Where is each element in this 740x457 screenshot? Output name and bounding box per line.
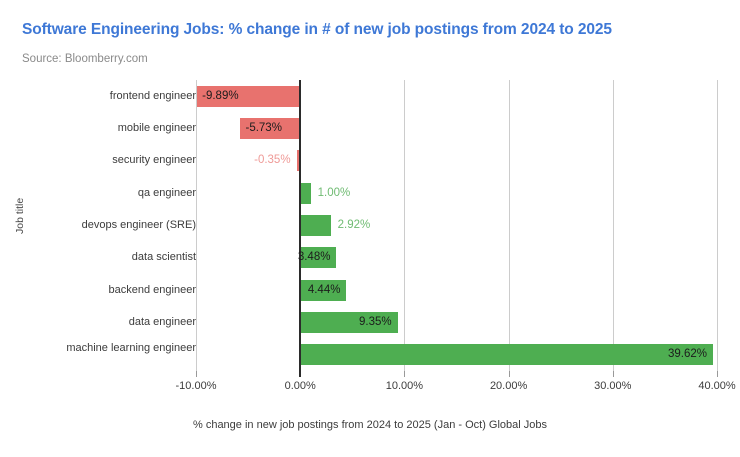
- bar-row[interactable]: 9.35%: [196, 312, 717, 333]
- y-axis-category-label: data engineer: [20, 316, 196, 329]
- x-tick-mark: [299, 371, 301, 377]
- y-axis-category-label: security engineer: [20, 154, 196, 167]
- bar-row[interactable]: 4.44%: [196, 280, 717, 301]
- bar-value-label: 9.35%: [196, 312, 392, 333]
- bar-row[interactable]: 1.00%: [196, 183, 717, 204]
- y-axis-category-label: backend engineer: [20, 284, 196, 297]
- y-axis-category-label: mobile engineer: [20, 122, 196, 135]
- x-axis-title: % change in new job postings from 2024 t…: [0, 419, 740, 431]
- x-tick-label: -10.00%: [176, 380, 217, 392]
- x-tick-mark: [509, 371, 510, 377]
- plot-area: -9.89%-5.73%-0.35%1.00%2.92%3.48%4.44%9.…: [196, 80, 717, 371]
- bar-row[interactable]: -0.35%: [196, 150, 717, 171]
- bar-value-label: 2.92%: [338, 215, 371, 236]
- bar-row[interactable]: -9.89%: [196, 86, 717, 107]
- bar-value-label: 39.62%: [196, 344, 707, 365]
- bar-row[interactable]: 2.92%: [196, 215, 717, 236]
- x-tick-mark: [404, 371, 405, 377]
- x-tick-label: 0.00%: [285, 380, 316, 392]
- bar-value-label: -0.35%: [196, 150, 291, 171]
- chart-container: Software Engineering Jobs: % change in #…: [0, 0, 740, 457]
- y-axis-category-label: frontend engineer: [20, 90, 196, 103]
- y-axis-category-label: qa engineer: [20, 187, 196, 200]
- bar-value-label: 3.48%: [196, 247, 330, 268]
- x-tick-mark: [613, 371, 614, 377]
- chart-title: Software Engineering Jobs: % change in #…: [22, 21, 612, 39]
- y-axis-category-label: machine learning engineer: [20, 342, 196, 355]
- bar-row[interactable]: -5.73%: [196, 118, 717, 139]
- x-axis-ticks: -10.00%0.00%10.00%20.00%30.00%40.00%: [196, 371, 717, 397]
- bar-value-label: 4.44%: [196, 280, 340, 301]
- bar-row[interactable]: 39.62%: [196, 344, 717, 365]
- y-axis-category-label: devops engineer (SRE): [20, 219, 196, 232]
- x-tick-label: 10.00%: [386, 380, 423, 392]
- bar-value-label: 1.00%: [318, 183, 351, 204]
- bar-value-label: -9.89%: [202, 86, 238, 107]
- bar-row[interactable]: 3.48%: [196, 247, 717, 268]
- gridline: [717, 80, 718, 371]
- x-tick-label: 20.00%: [490, 380, 527, 392]
- y-axis-category-label: data scientist: [20, 251, 196, 264]
- x-tick-mark: [717, 371, 718, 377]
- x-tick-label: 40.00%: [698, 380, 735, 392]
- y-axis-category-labels: frontend engineermobile engineersecurity…: [10, 80, 196, 371]
- bar[interactable]: [300, 183, 310, 204]
- x-tick-label: 30.00%: [594, 380, 631, 392]
- bar[interactable]: [300, 215, 330, 236]
- x-tick-mark: [196, 371, 197, 377]
- chart-source-label: Source: Bloomberry.com: [22, 53, 148, 65]
- bar-value-label: -5.73%: [245, 118, 281, 139]
